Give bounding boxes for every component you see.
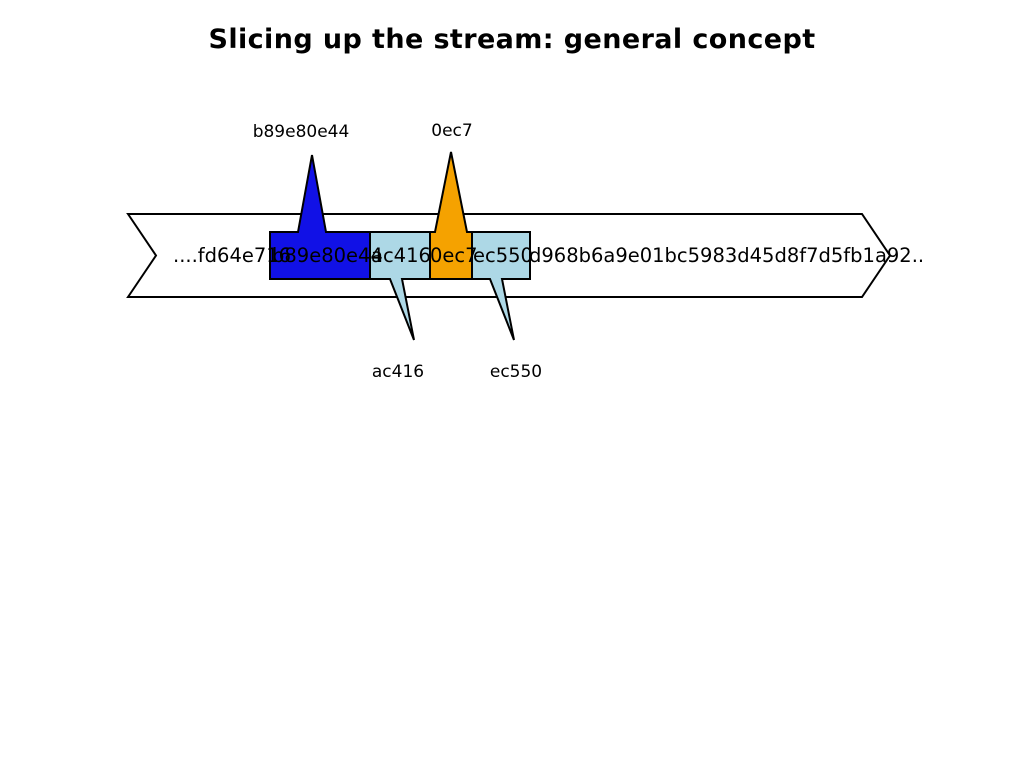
stream-text-slice-3: 0ec7 <box>430 244 478 267</box>
stream-text-suffix: d968b6a9e01bc5983d45d8f7d5fb1a92.. <box>529 244 924 267</box>
stream-text-slice-1: b89e80e44 <box>272 244 383 267</box>
callout-label-0ec7: 0ec7 <box>431 121 472 141</box>
slide-canvas: Slicing up the stream: general concept .… <box>0 0 1024 768</box>
callout-label-b89e80e44: b89e80e44 <box>253 122 350 142</box>
stream-slicing-diagram: ....fd64e716 b89e80e44 ac416 0ec7 ec550 … <box>0 0 1024 768</box>
callout-label-ec550: ec550 <box>490 362 542 382</box>
stream-text-slice-4: ec550 <box>473 244 533 267</box>
callout-label-ac416: ac416 <box>372 362 424 382</box>
stream-text-slice-2: ac416 <box>371 244 431 267</box>
